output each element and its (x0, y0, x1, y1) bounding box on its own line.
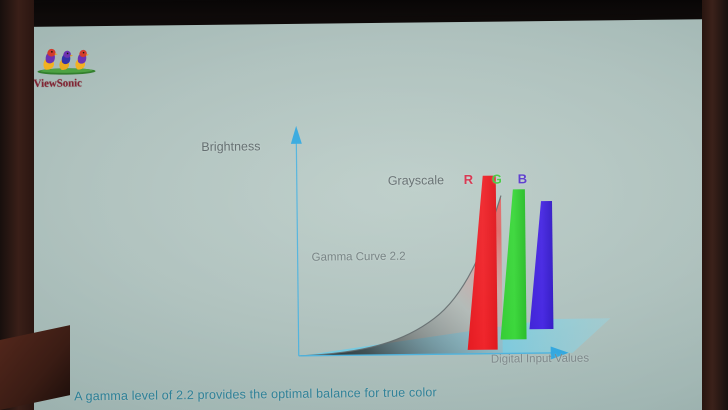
slide-caption: A gamma level of 2.2 provides the optima… (74, 385, 437, 403)
channel-label-b: B (518, 171, 528, 186)
channel-label-g: G (492, 172, 502, 187)
x-axis-label: Digital Input Values (491, 353, 589, 366)
grayscale-annotation: Grayscale (388, 173, 444, 188)
y-axis (296, 140, 298, 356)
room-wall-right (702, 0, 728, 410)
viewsonic-three-birds-logo (33, 42, 99, 77)
bar-b (528, 201, 553, 329)
gamma-chart-svg (250, 90, 613, 384)
presentation-slide: ViewSonic (19, 19, 707, 410)
viewsonic-wordmark: ViewSonic (34, 77, 104, 90)
viewsonic-logo: ViewSonic (33, 42, 104, 90)
y-axis-label: Brightness (201, 139, 260, 154)
y-axis-arrowhead (291, 126, 302, 144)
projected-slide-photo: ViewSonic (0, 0, 728, 410)
room-wall-bottom-left (0, 325, 70, 410)
channel-label-r: R (464, 172, 474, 187)
bar-g (499, 189, 527, 339)
gamma-chart (250, 90, 613, 384)
bar-r (466, 176, 498, 350)
gamma-curve-annotation: Gamma Curve 2.2 (312, 251, 406, 264)
